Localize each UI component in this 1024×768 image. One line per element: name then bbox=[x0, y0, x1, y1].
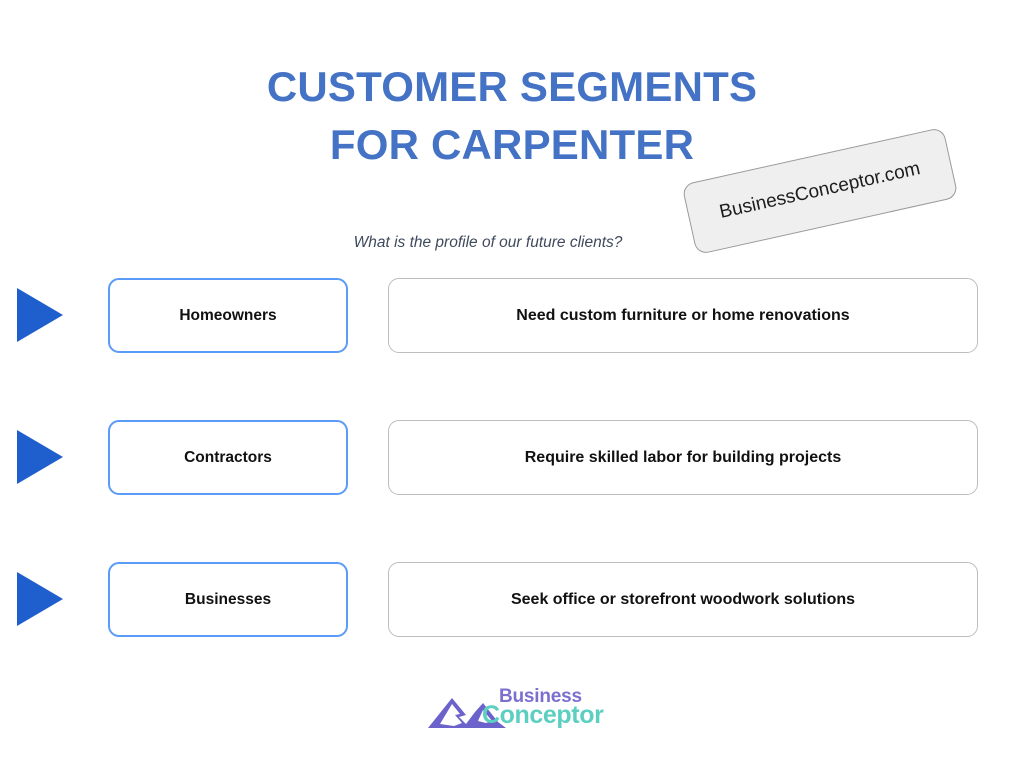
segment-row: Contractors Require skilled labor for bu… bbox=[0, 420, 1024, 496]
logo-word-conceptor: Conceptor bbox=[482, 701, 603, 730]
segment-label: Contractors bbox=[184, 449, 272, 467]
play-triangle-icon bbox=[17, 430, 63, 484]
segment-row: Homeowners Need custom furniture or home… bbox=[0, 278, 1024, 354]
description-box[interactable]: Require skilled labor for building proje… bbox=[388, 420, 978, 495]
segment-box[interactable]: Homeowners bbox=[108, 278, 348, 353]
segment-label: Businesses bbox=[185, 591, 271, 609]
segment-box[interactable]: Contractors bbox=[108, 420, 348, 495]
play-triangle-icon bbox=[17, 572, 63, 626]
description-label: Need custom furniture or home renovation… bbox=[516, 307, 849, 325]
segment-box[interactable]: Businesses bbox=[108, 562, 348, 637]
footer-logo: Business Conceptor bbox=[426, 686, 606, 738]
play-triangle-icon bbox=[17, 288, 63, 342]
description-box[interactable]: Need custom furniture or home renovation… bbox=[388, 278, 978, 353]
segment-row: Businesses Seek office or storefront woo… bbox=[0, 562, 1024, 638]
description-label: Seek office or storefront woodwork solut… bbox=[511, 591, 855, 609]
page-title-line-1: CUSTOMER SEGMENTS bbox=[0, 58, 1024, 116]
slide-canvas: CUSTOMER SEGMENTS FOR CARPENTER Business… bbox=[0, 0, 1024, 768]
subtitle: What is the profile of our future client… bbox=[0, 234, 1024, 252]
description-box[interactable]: Seek office or storefront woodwork solut… bbox=[388, 562, 978, 637]
description-label: Require skilled labor for building proje… bbox=[525, 449, 842, 467]
segment-label: Homeowners bbox=[179, 307, 276, 325]
